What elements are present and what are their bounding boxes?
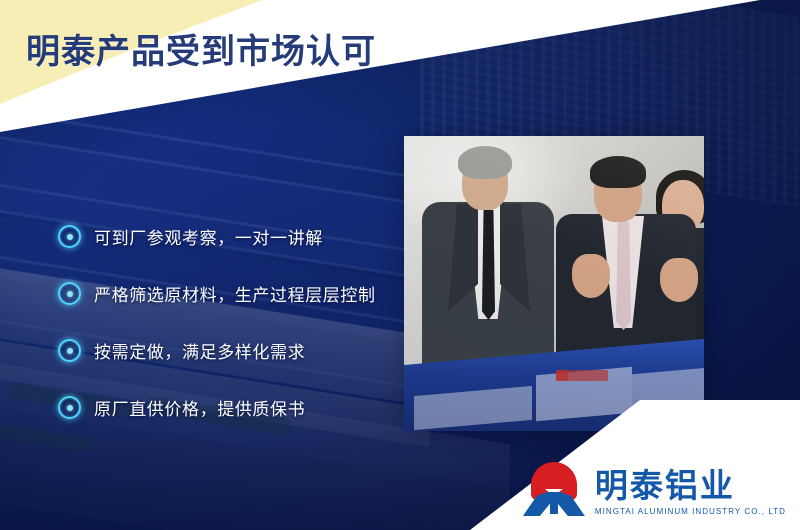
target-circle-icon <box>58 339 81 362</box>
mingtai-sun-mountain-icon <box>523 462 585 516</box>
list-item-label: 可到厂参观考察，一对一讲解 <box>94 224 323 249</box>
photo-shading <box>404 136 704 431</box>
company-name-en: MINGTAI ALUMINUM INDUSTRY CO., LTD <box>595 507 786 516</box>
list-item: 可到厂参观考察，一对一讲解 <box>58 208 418 265</box>
list-item: 原厂直供价格，提供质保书 <box>58 379 418 436</box>
business-people-photo <box>404 136 704 431</box>
list-item: 按需定做，满足多样化需求 <box>58 322 418 379</box>
feature-list: 可到厂参观考察，一对一讲解 严格筛选原材料，生产过程层层控制 按需定做，满足多样… <box>58 208 418 436</box>
target-circle-icon <box>58 396 81 419</box>
page-title: 明泰产品受到市场认可 <box>26 24 376 73</box>
list-item-label: 原厂直供价格，提供质保书 <box>94 395 305 420</box>
company-logo: 明泰铝业 MINGTAI ALUMINUM INDUSTRY CO., LTD <box>523 462 786 516</box>
promotional-banner: 明泰产品受到市场认可 可到厂参观考察，一对一讲解 严格筛选原材料，生产过程层层控… <box>0 0 800 530</box>
list-item-label: 严格筛选原材料，生产过程层层控制 <box>94 281 376 306</box>
company-name-cn: 明泰铝业 <box>595 469 786 504</box>
target-circle-icon <box>58 225 81 248</box>
list-item: 严格筛选原材料，生产过程层层控制 <box>58 265 418 322</box>
list-item-label: 按需定做，满足多样化需求 <box>94 338 305 363</box>
target-circle-icon <box>58 282 81 305</box>
logo-text-block: 明泰铝业 MINGTAI ALUMINUM INDUSTRY CO., LTD <box>595 469 786 516</box>
